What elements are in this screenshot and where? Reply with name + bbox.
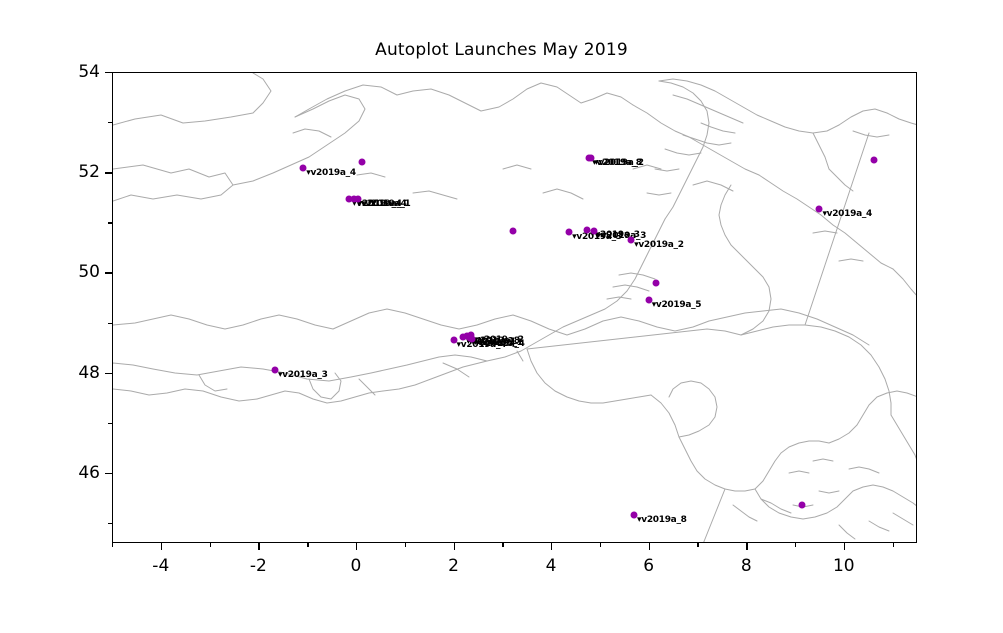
x-axis-minor-tick (307, 543, 308, 547)
x-axis-minor-tick (697, 543, 698, 547)
point-label: ▾v2019a_3 (278, 370, 328, 380)
x-axis-minor-tick (405, 543, 406, 547)
x-axis-tick-label: 2 (448, 556, 459, 576)
y-axis-minor-tick (108, 523, 112, 524)
scatter-point[interactable] (358, 159, 365, 166)
y-axis-tick (105, 272, 112, 273)
x-axis-tick (356, 543, 357, 550)
y-axis-tick (105, 373, 112, 374)
coastline-map (113, 73, 917, 543)
x-axis-minor-tick (502, 543, 503, 547)
scatter-point[interactable] (871, 156, 878, 163)
x-axis-tick-label: -2 (250, 556, 267, 576)
y-axis-tick-label: 48 (60, 363, 100, 383)
x-axis-tick (746, 543, 747, 550)
y-axis-tick (105, 172, 112, 173)
x-axis-minor-tick (600, 543, 601, 547)
x-axis-tick (161, 543, 162, 550)
y-axis-tick-label: 46 (60, 463, 100, 483)
point-label: ▾v2019a_2 (594, 158, 644, 168)
point-label: ▾v2019a_4 (822, 209, 872, 219)
point-label: ▾v2019a_8 (637, 515, 687, 525)
x-axis-tick-label: 4 (546, 556, 557, 576)
y-axis-tick-label: 52 (60, 162, 100, 182)
x-axis-tick (258, 543, 259, 550)
point-label: ▾v2019a_1 (361, 199, 411, 209)
x-axis-tick-label: 8 (741, 556, 752, 576)
x-axis-tick (649, 543, 650, 550)
point-label: ▾v2019a_4 (306, 168, 356, 178)
x-axis-tick-label: -4 (152, 556, 169, 576)
point-label: ▾v2019a_4 (475, 339, 525, 349)
x-axis-tick-label: 0 (351, 556, 362, 576)
x-axis-minor-tick (795, 543, 796, 547)
point-label: ▾v2019a_2 (634, 240, 684, 250)
point-label: ▾v2019a_5 (652, 300, 702, 310)
x-axis-tick (551, 543, 552, 550)
y-axis-minor-tick (108, 222, 112, 223)
y-axis-minor-tick (108, 323, 112, 324)
y-axis-tick-label: 50 (60, 262, 100, 282)
y-axis-minor-tick (108, 122, 112, 123)
chart-title: Autoplot Launches May 2019 (0, 40, 1003, 60)
scatter-point[interactable] (510, 227, 517, 234)
x-axis-minor-tick (112, 543, 113, 547)
x-axis-tick (454, 543, 455, 550)
figure-canvas: Autoplot Launches May 2019 (0, 0, 1003, 633)
scatter-point[interactable] (798, 501, 805, 508)
y-axis-tick-label: 54 (60, 62, 100, 82)
y-axis-tick (105, 473, 112, 474)
x-axis-tick-label: 10 (833, 556, 855, 576)
x-axis-tick-label: 6 (643, 556, 654, 576)
x-axis-minor-tick (210, 543, 211, 547)
y-axis-minor-tick (108, 423, 112, 424)
y-axis-tick (105, 72, 112, 73)
scatter-point[interactable] (652, 279, 659, 286)
x-axis-tick (844, 543, 845, 550)
plot-axes[interactable]: ▾v2019a_4▾v2019a_4▾v2019a_4▾v2019a_1▾v20… (112, 72, 917, 543)
x-axis-minor-tick (893, 543, 894, 547)
point-label: ▾v2019a_3 (597, 231, 647, 241)
